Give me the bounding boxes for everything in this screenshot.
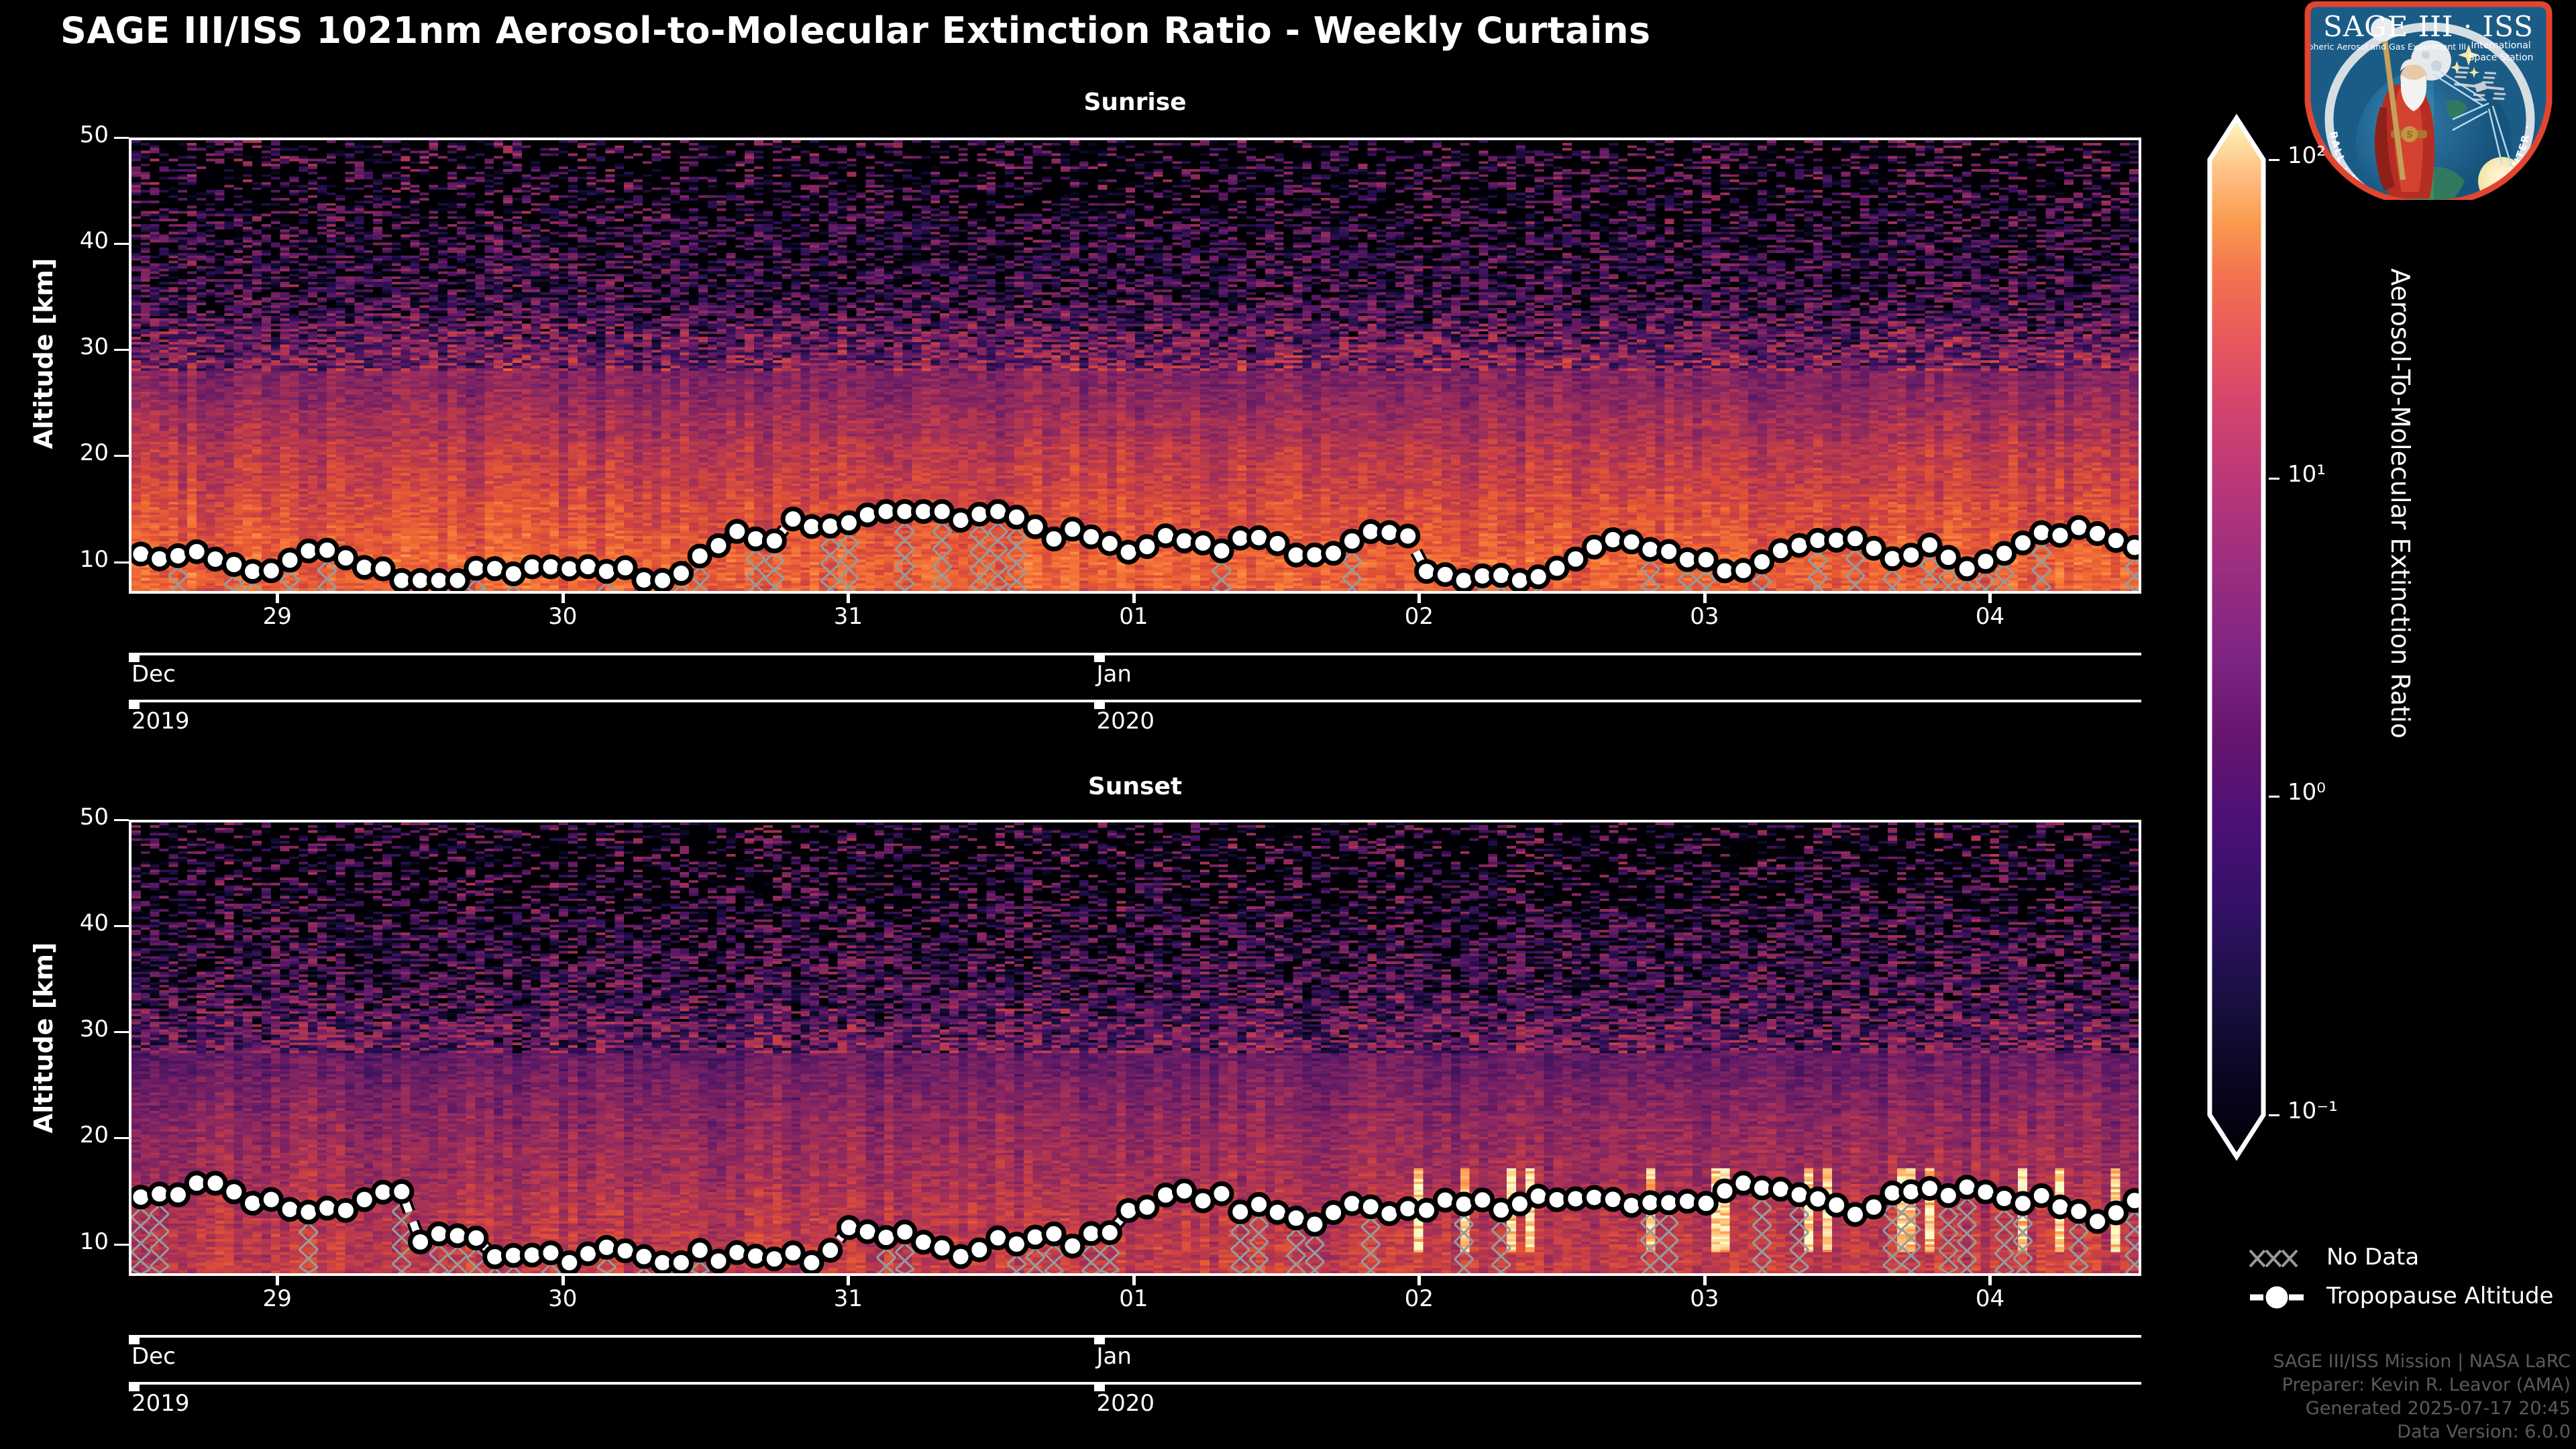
y-axis-label-sunrise: Altitude [km] [29, 213, 58, 494]
y-tick-label: 10 [28, 546, 109, 573]
year-level-stub [1094, 1382, 1105, 1391]
y-tick-mark [114, 1031, 129, 1033]
colorbar[interactable] [2204, 113, 2269, 1162]
x-tick-label: 31 [788, 1285, 908, 1312]
x-tick-mark [1417, 594, 1421, 603]
colorbar-tick-mark [2269, 478, 2279, 480]
panel-title-sunrise: Sunrise [129, 89, 2141, 116]
x-tick-mark [276, 1276, 279, 1285]
year-level-stub [129, 1382, 140, 1391]
credits-line-1: SAGE III/ISS Mission | NASA LaRC [2273, 1350, 2571, 1373]
month-level-label: Dec [131, 661, 176, 688]
y-tick-mark [114, 561, 129, 563]
x-tick-mark [1132, 1276, 1136, 1285]
x-tick-label: 30 [502, 1285, 623, 1312]
x-tick-mark [1988, 594, 1992, 603]
overlay-layer-sunrise [131, 140, 2141, 594]
page-title: SAGE III/ISS 1021nm Aerosol-to-Molecular… [60, 9, 1651, 52]
month-level-rule [129, 1335, 2141, 1338]
colorbar-tick-label: 10⁻¹ [2288, 1097, 2338, 1124]
colorbar-tick-mark [2269, 159, 2279, 161]
x-tick-mark [561, 1276, 565, 1285]
x-tick-label: 29 [217, 1285, 337, 1312]
y-tick-mark [114, 455, 129, 457]
y-tick-mark [114, 1137, 129, 1139]
credits-line-3: Generated 2025-07-17 20:45 [2273, 1397, 2571, 1420]
x-tick-label: 02 [1358, 603, 1479, 630]
x-tick-label: 04 [1929, 603, 2050, 630]
y-tick-label: 10 [28, 1228, 109, 1255]
year-level-rule [129, 700, 2141, 702]
sage-iii-iss-logo: S BALL · NASA LANGLEY RESEARCH CENTER · … [2288, 1, 2569, 200]
y-tick-mark [114, 819, 129, 821]
y-tick-mark [114, 137, 129, 139]
hatch-x-icon [2247, 1244, 2312, 1271]
colorbar-gradient [2210, 118, 2263, 1157]
x-tick-mark [1703, 1276, 1707, 1285]
panel-title-sunset: Sunset [129, 773, 2141, 800]
x-tick-label: 30 [502, 603, 623, 630]
colorbar-tick-mark [2269, 796, 2279, 798]
month-level-stub [1094, 653, 1105, 662]
x-tick-label: 03 [1644, 603, 1765, 630]
x-tick-mark [1417, 1276, 1421, 1285]
legend-label-no-data: No Data [2326, 1244, 2419, 1271]
legend-label-tropopause: Tropopause Altitude [2326, 1283, 2553, 1309]
y-axis-label-sunset: Altitude [km] [29, 897, 58, 1179]
overlay-layer-sunset [131, 822, 2141, 1276]
x-tick-mark [276, 594, 279, 603]
colorbar-tick-mark [2269, 1114, 2279, 1116]
y-tick-mark [114, 349, 129, 351]
year-level-label: 2020 [1097, 1390, 1155, 1417]
credits-line-2: Preparer: Kevin R. Leavor (AMA) [2273, 1373, 2571, 1397]
plot-area-sunrise[interactable] [129, 138, 2141, 594]
plot-area-sunset[interactable] [129, 820, 2141, 1276]
colorbar-label: Aerosol-To-Molecular Extinction Ratio [2385, 268, 2415, 739]
year-level-label: 2019 [131, 1390, 190, 1417]
year-level-rule [129, 1382, 2141, 1385]
logo-subtitle-left: Stratospheric Aerosol and Gas Experiment… [2288, 42, 2466, 52]
x-tick-mark [847, 1276, 850, 1285]
line-circle-icon [2247, 1283, 2312, 1309]
x-tick-mark [1132, 594, 1136, 603]
logo-subtitle-right-1: International [2471, 40, 2530, 51]
month-level-stub [1094, 1335, 1105, 1344]
y-tick-mark [114, 1244, 129, 1246]
credits-block: SAGE III/ISS Mission | NASA LaRC Prepare… [2273, 1350, 2571, 1444]
month-level-stub [129, 1335, 140, 1344]
legend-item-no-data[interactable]: No Data [2247, 1238, 2569, 1277]
legend-item-tropopause[interactable]: Tropopause Altitude [2247, 1277, 2569, 1316]
month-level-stub [129, 653, 140, 662]
credits-line-4: Data Version: 6.0.0 [2273, 1420, 2571, 1444]
y-tick-mark [114, 243, 129, 245]
x-tick-label: 04 [1929, 1285, 2050, 1312]
y-tick-mark [114, 925, 129, 927]
y-tick-label: 50 [28, 804, 109, 830]
colorbar-tick-label: 10¹ [2288, 461, 2326, 488]
year-level-stub [1094, 700, 1105, 709]
x-tick-label: 01 [1073, 603, 1194, 630]
x-tick-label: 01 [1073, 1285, 1194, 1312]
month-level-label: Jan [1097, 1343, 1132, 1370]
month-level-label: Dec [131, 1343, 176, 1370]
year-level-label: 2020 [1097, 708, 1155, 735]
logo-title: SAGE III · ISS [2323, 10, 2534, 43]
year-level-stub [129, 700, 140, 709]
month-level-rule [129, 653, 2141, 655]
month-level-label: Jan [1097, 661, 1132, 688]
y-tick-label: 50 [28, 121, 109, 148]
x-tick-label: 31 [788, 603, 908, 630]
x-tick-label: 03 [1644, 1285, 1765, 1312]
colorbar-tick-label: 10⁰ [2288, 779, 2326, 806]
x-tick-mark [561, 594, 565, 603]
svg-text:S: S [2407, 130, 2413, 140]
x-tick-mark [1703, 594, 1707, 603]
x-tick-mark [847, 594, 850, 603]
x-tick-label: 02 [1358, 1285, 1479, 1312]
x-tick-label: 29 [217, 603, 337, 630]
tropopause-markers [131, 501, 2141, 590]
x-tick-mark [1988, 1276, 1992, 1285]
logo-subtitle-right-2: Space Station [2469, 52, 2534, 63]
year-level-label: 2019 [131, 708, 190, 735]
legend: No Data Tropopause Altitude [2247, 1238, 2569, 1316]
